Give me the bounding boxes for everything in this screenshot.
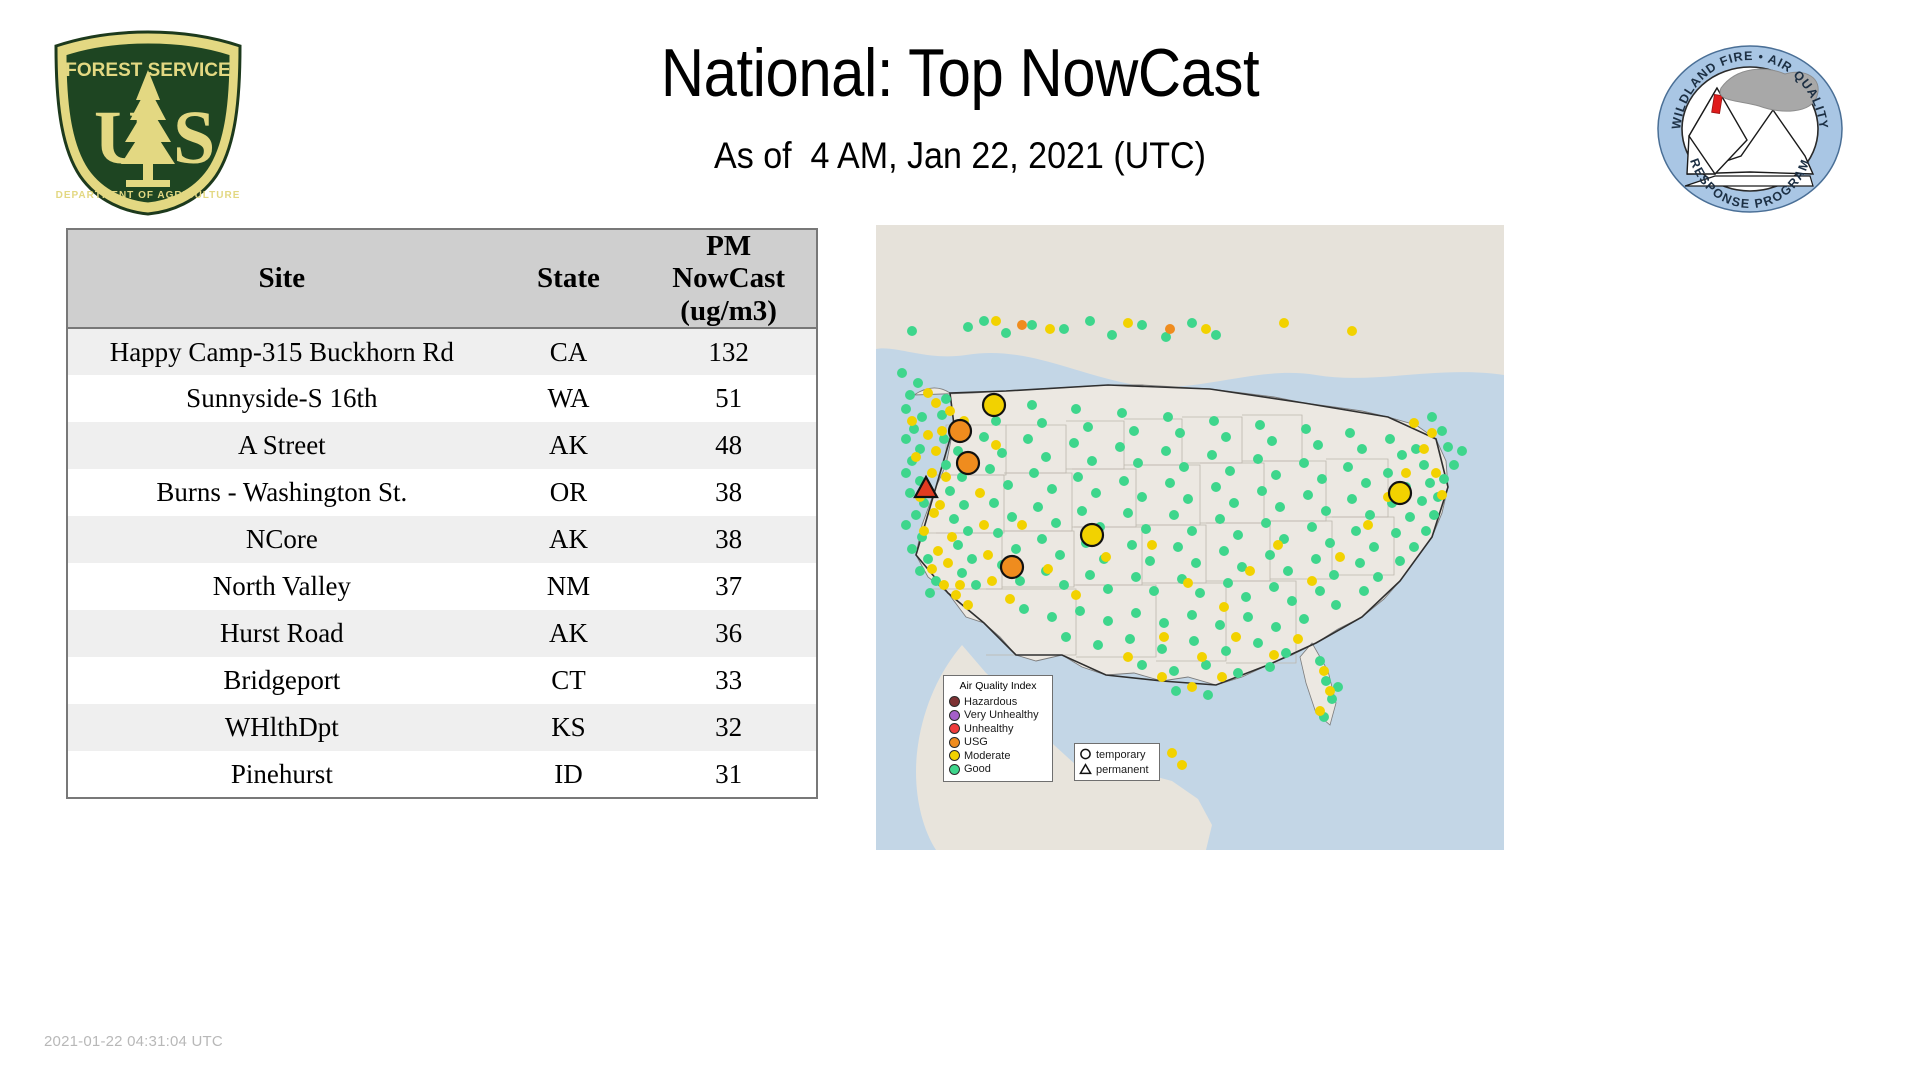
top-site-marker-burns-washington-st	[957, 452, 979, 474]
table-row[interactable]: Burns - Washington St.OR38	[67, 469, 817, 516]
page-subtitle: As of 4 AM, Jan 22, 2021 (UTC)	[353, 135, 1567, 177]
table-row[interactable]: NCoreAK38	[67, 516, 817, 563]
table-header-row: Site State PM NowCast (ug/m3)	[67, 229, 817, 328]
cell-pm-nowcast: 38	[641, 469, 817, 516]
top-site-marker-bridgeport	[1389, 482, 1411, 504]
aqi-legend-label: USG	[964, 736, 988, 748]
table-header: Site State PM NowCast (ug/m3)	[67, 229, 817, 328]
circle-outline-icon	[1079, 748, 1092, 761]
column-header-pm-line2: NowCast	[641, 262, 816, 294]
table-row[interactable]: A StreetAK48	[67, 422, 817, 469]
table-row[interactable]: BridgeportCT33	[67, 657, 817, 704]
aqi-legend-label: Moderate	[964, 750, 1010, 762]
table-row[interactable]: Hurst RoadAK36	[67, 610, 817, 657]
footer-timestamp: 2021-01-22 04:31:04 UTC	[44, 1033, 223, 1050]
table-row[interactable]: North ValleyNM37	[67, 563, 817, 610]
top-nowcast-table: Site State PM NowCast (ug/m3) Happy Camp…	[66, 228, 818, 799]
cell-state: OR	[496, 469, 642, 516]
cell-site: North Valley	[67, 563, 496, 610]
page-header: FOREST SERVICE U S DEPARTMENT OF AGRICUL…	[0, 0, 1920, 220]
cell-site: Sunnyside-S 16th	[67, 375, 496, 422]
aqi-legend-rows: HazardousVery UnhealthyUnhealthyUSGModer…	[949, 695, 1047, 776]
wildland-fire-air-quality-seal-icon: WILDLAND FIRE • AIR QUALITY RESPONSE PRO…	[1655, 44, 1845, 214]
cell-pm-nowcast: 32	[641, 704, 817, 751]
forest-service-logo-bottom-text: DEPARTMENT OF AGRICULTURE	[56, 190, 241, 201]
aqi-legend-label: Unhealthy	[964, 723, 1014, 735]
marker-type-legend: temporary permanent	[1074, 743, 1160, 781]
cell-state: KS	[496, 704, 642, 751]
aqi-swatch-icon	[949, 696, 960, 707]
aqi-swatch-icon	[949, 764, 960, 775]
cell-pm-nowcast: 33	[641, 657, 817, 704]
cell-state: AK	[496, 610, 642, 657]
aqi-legend-row: Very Unhealthy	[949, 709, 1047, 723]
cell-state: ID	[496, 751, 642, 798]
top-site-marker-north-valley	[1001, 556, 1023, 578]
cell-site: Bridgeport	[67, 657, 496, 704]
title-block: National: Top NowCast As of 4 AM, Jan 22…	[300, 38, 1620, 177]
column-header-pm-line1: PM	[641, 230, 816, 262]
marker-legend-row-permanent: permanent	[1079, 762, 1155, 777]
cell-pm-nowcast: 31	[641, 751, 817, 798]
top-nowcast-table-container: Site State PM NowCast (ug/m3) Happy Camp…	[66, 228, 818, 799]
cell-state: NM	[496, 563, 642, 610]
cell-site: Burns - Washington St.	[67, 469, 496, 516]
marker-legend-label-permanent: permanent	[1096, 764, 1149, 776]
top-site-marker-whlthdpt	[1081, 524, 1103, 546]
table-row[interactable]: WHlthDptKS32	[67, 704, 817, 751]
top-site-marker-pinehurst	[949, 420, 971, 442]
cell-pm-nowcast: 51	[641, 375, 817, 422]
aqi-legend: Air Quality Index HazardousVery Unhealth…	[943, 675, 1053, 782]
cell-state: AK	[496, 422, 642, 469]
cell-site: WHlthDpt	[67, 704, 496, 751]
cell-pm-nowcast: 37	[641, 563, 817, 610]
cell-site: Hurst Road	[67, 610, 496, 657]
aqi-legend-row: Unhealthy	[949, 722, 1047, 736]
column-header-site[interactable]: Site	[67, 229, 496, 328]
aqi-legend-row: Moderate	[949, 749, 1047, 763]
triangle-outline-icon	[1079, 763, 1092, 776]
column-header-pm-line3: (ug/m3)	[641, 295, 816, 327]
cell-pm-nowcast: 38	[641, 516, 817, 563]
cell-site: NCore	[67, 516, 496, 563]
aqi-swatch-icon	[949, 750, 960, 761]
aqi-legend-label: Good	[964, 763, 991, 775]
cell-state: WA	[496, 375, 642, 422]
column-header-pm-nowcast[interactable]: PM NowCast (ug/m3)	[641, 229, 817, 328]
aqi-legend-row: Good	[949, 763, 1047, 777]
aqi-swatch-icon	[949, 710, 960, 721]
aqi-legend-label: Very Unhealthy	[964, 709, 1039, 721]
us-forest-service-shield-icon: FOREST SERVICE U S DEPARTMENT OF AGRICUL…	[48, 28, 248, 218]
cell-state: AK	[496, 516, 642, 563]
marker-legend-row-temporary: temporary	[1079, 747, 1155, 762]
cell-pm-nowcast: 48	[641, 422, 817, 469]
cell-state: CT	[496, 657, 642, 704]
aqi-legend-label: Hazardous	[964, 696, 1017, 708]
aqi-legend-row: Hazardous	[949, 695, 1047, 709]
cell-site: Happy Camp-315 Buckhorn Rd	[67, 328, 496, 375]
marker-legend-label-temporary: temporary	[1096, 749, 1146, 761]
table-row[interactable]: Happy Camp-315 Buckhorn RdCA132	[67, 328, 817, 375]
aqi-swatch-icon	[949, 737, 960, 748]
cell-state: CA	[496, 328, 642, 375]
national-aqi-map[interactable]: Air Quality Index HazardousVery Unhealth…	[876, 225, 1504, 850]
table-row[interactable]: Sunnyside-S 16thWA51	[67, 375, 817, 422]
cell-pm-nowcast: 36	[641, 610, 817, 657]
cell-site: Pinehurst	[67, 751, 496, 798]
aqi-legend-row: USG	[949, 736, 1047, 750]
aqi-legend-title: Air Quality Index	[949, 680, 1047, 692]
table-row[interactable]: PinehurstID31	[67, 751, 817, 798]
table-body: Happy Camp-315 Buckhorn RdCA132Sunnyside…	[67, 328, 817, 798]
aqi-swatch-icon	[949, 723, 960, 734]
cell-pm-nowcast: 132	[641, 328, 817, 375]
forest-service-logo-s: S	[173, 96, 215, 180]
page-title: National: Top NowCast	[379, 38, 1541, 109]
column-header-state[interactable]: State	[496, 229, 642, 328]
top-site-marker-sunnyside-s-16th	[983, 394, 1005, 416]
cell-site: A Street	[67, 422, 496, 469]
